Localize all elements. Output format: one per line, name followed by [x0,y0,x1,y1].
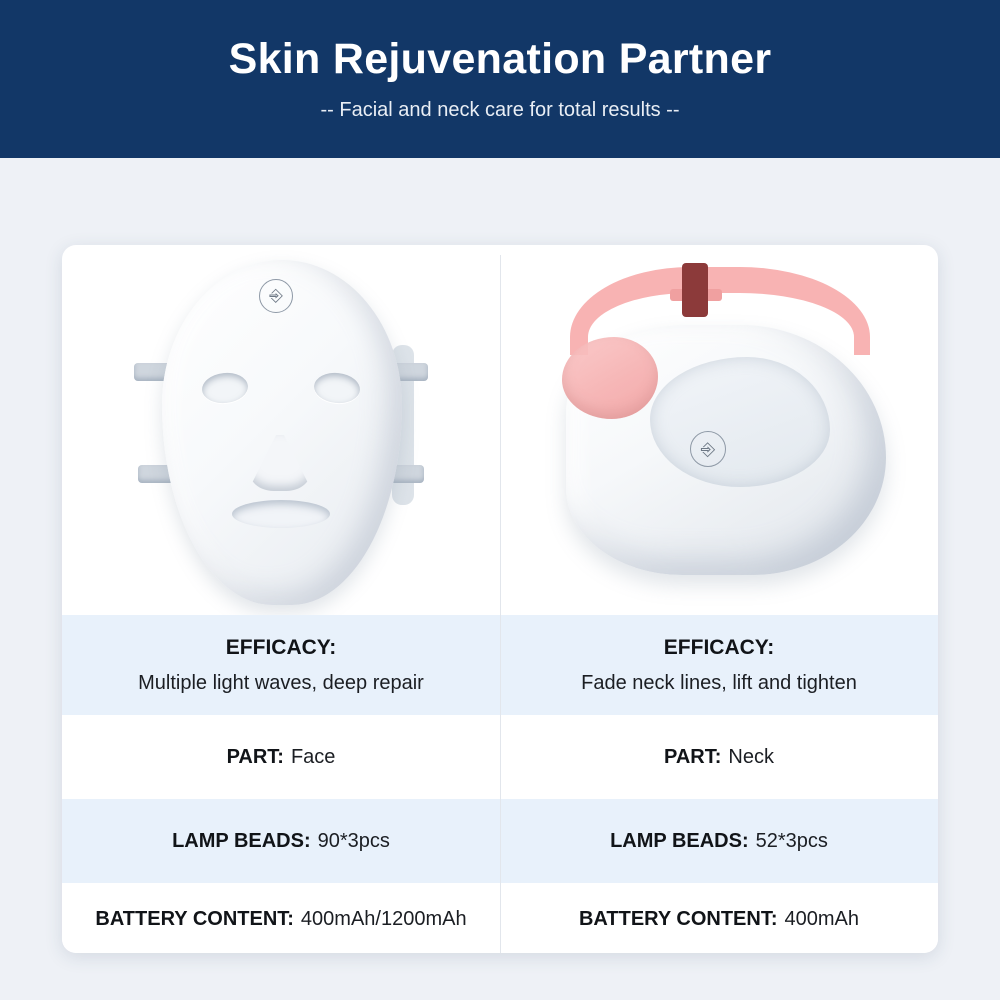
page-title: Skin Rejuvenation Partner [229,36,772,83]
spec-cell-efficacy-right: EFFICACY: Fade neck lines, lift and tigh… [500,615,938,715]
spec-cell-lamp-beads-right: LAMP BEADS: 52*3pcs [500,799,938,883]
spec-value: Fade neck lines, lift and tighten [581,672,857,695]
power-icon: ⎆ [259,279,293,313]
spec-label: PART: [227,746,284,769]
spec-label: LAMP BEADS: [610,830,749,853]
spec-label: EFFICACY: [664,636,774,660]
spec-value: 90*3pcs [318,830,390,853]
neck-device-illustration: ⎆ [500,245,938,615]
power-icon: ⎆ [690,431,726,467]
product-infographic-page: Skin Rejuvenation Partner -- Facial and … [0,0,1000,1000]
product-images-row: ⎆ ⎆ [62,245,938,615]
spec-value: Multiple light waves, deep repair [138,672,424,695]
spec-value: 52*3pcs [756,830,828,853]
spec-value: Neck [728,746,774,769]
page-subtitle: -- Facial and neck care for total result… [320,99,679,122]
spec-label: BATTERY CONTENT: [579,908,778,931]
spec-label: EFFICACY: [226,636,336,660]
face-mask-illustration: ⎆ [62,245,500,615]
spec-value: 400mAh/1200mAh [301,908,467,931]
spec-cell-battery-right: BATTERY CONTENT: 400mAh [500,883,938,953]
neck-silicone-pad [562,337,658,419]
mask-mouth-opening [232,500,330,528]
spec-cell-battery-left: BATTERY CONTENT: 400mAh/1200mAh [62,883,500,953]
spec-cell-part-right: PART: Neck [500,715,938,799]
spec-label: BATTERY CONTENT: [95,908,294,931]
spec-label: LAMP BEADS: [172,830,311,853]
product-image-face-mask: ⎆ [62,245,500,615]
strap-buckle [682,263,708,317]
neck-inner-panel [650,357,830,487]
spec-value: 400mAh [785,908,860,931]
spec-cell-lamp-beads-left: LAMP BEADS: 90*3pcs [62,799,500,883]
comparison-card: ⎆ ⎆ EFFICACY: [62,245,938,953]
spec-label: PART: [664,746,721,769]
spec-value: Face [291,746,335,769]
spec-cell-part-left: PART: Face [62,715,500,799]
spec-cell-efficacy-left: EFFICACY: Multiple light waves, deep rep… [62,615,500,715]
column-divider [500,255,501,953]
page-header: Skin Rejuvenation Partner -- Facial and … [0,0,1000,158]
product-image-neck-device: ⎆ [500,245,938,615]
